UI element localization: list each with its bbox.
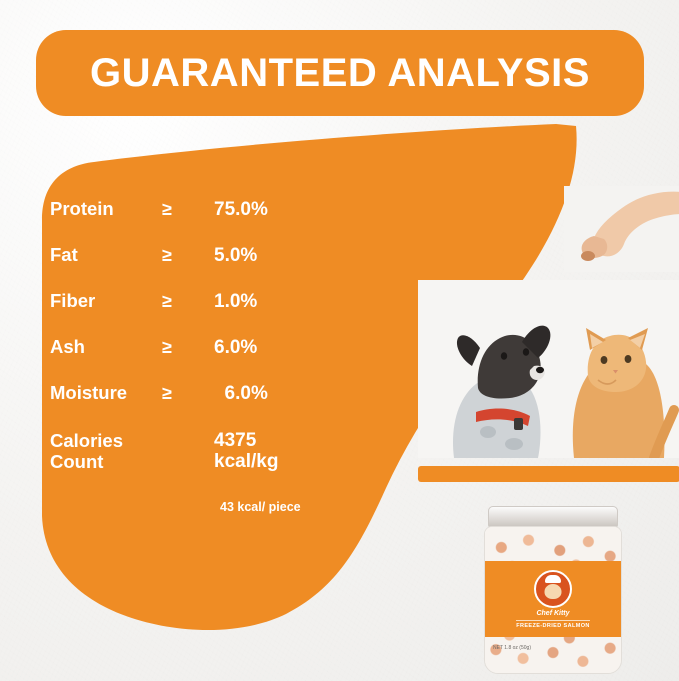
chef-hat-icon bbox=[545, 575, 561, 583]
nutrient-label: Ash bbox=[44, 336, 162, 358]
product-flavor: FREEZE-DRIED SALMON bbox=[516, 620, 590, 629]
table-row: Fat ≥ 5.0% bbox=[44, 244, 374, 290]
calories-value-line1: 4375 bbox=[214, 430, 256, 451]
nutrient-operator: ≥ bbox=[162, 291, 214, 312]
table-row: Protein ≥ 75.0% bbox=[44, 198, 374, 244]
calories-label: CaloriesCount bbox=[44, 428, 162, 472]
nutrient-operator: ≥ bbox=[162, 245, 214, 266]
jar-label: Chef Kitty FREEZE-DRIED SALMON bbox=[485, 561, 621, 637]
net-weight: NET 1.8 oz (50g) bbox=[493, 645, 531, 651]
product-jar-photo: Chef Kitty FREEZE-DRIED SALMON NET 1.8 o… bbox=[470, 498, 640, 676]
guaranteed-analysis-page: GUARANTEED ANALYSIS Protein ≥ 75.0% Fat … bbox=[0, 0, 679, 681]
calories-label-line1: Calories bbox=[50, 430, 123, 451]
nutrient-operator: ≥ bbox=[162, 337, 214, 358]
dog-and-cat-photo bbox=[418, 280, 679, 458]
brand-name: Chef Kitty bbox=[536, 610, 569, 617]
orange-shelf-bar bbox=[418, 466, 679, 482]
table-row: Ash ≥ 6.0% bbox=[44, 336, 374, 382]
guaranteed-analysis-table: Protein ≥ 75.0% Fat ≥ 5.0% Fiber ≥ 1.0% … bbox=[44, 198, 374, 514]
hand-holding-treat-photo bbox=[564, 186, 679, 272]
calories-per-piece: 43 kcal/ piece bbox=[220, 500, 374, 514]
jar-body: Chef Kitty FREEZE-DRIED SALMON NET 1.8 o… bbox=[484, 526, 622, 674]
nutrient-label: Moisture bbox=[44, 382, 162, 404]
chef-mascot-icon bbox=[534, 570, 572, 608]
nutrient-label: Fat bbox=[44, 244, 162, 266]
nutrient-value: 1.0% bbox=[214, 291, 257, 313]
jar-lid bbox=[488, 506, 618, 528]
nutrient-operator: ≥ bbox=[162, 383, 214, 404]
nutrient-value: 5.0% bbox=[214, 245, 257, 267]
nutrient-label: Fiber bbox=[44, 290, 162, 312]
calories-value: 4375kcal/kg bbox=[214, 428, 278, 472]
title-banner: GUARANTEED ANALYSIS bbox=[36, 30, 644, 116]
nutrient-value: 6.0% bbox=[214, 383, 268, 405]
nutrient-operator: ≥ bbox=[162, 199, 214, 220]
table-row: Fiber ≥ 1.0% bbox=[44, 290, 374, 336]
nutrient-label: Protein bbox=[44, 198, 162, 220]
chef-face-icon bbox=[545, 584, 562, 599]
nutrient-value: 6.0% bbox=[214, 337, 257, 359]
nutrient-value: 75.0% bbox=[214, 199, 268, 221]
table-row-calories: CaloriesCount 4375kcal/kg bbox=[44, 428, 374, 486]
calories-label-line2: Count bbox=[50, 451, 103, 472]
page-title: GUARANTEED ANALYSIS bbox=[90, 51, 590, 96]
table-row: Moisture ≥ 6.0% bbox=[44, 382, 374, 428]
calories-value-line2: kcal/kg bbox=[214, 451, 278, 472]
